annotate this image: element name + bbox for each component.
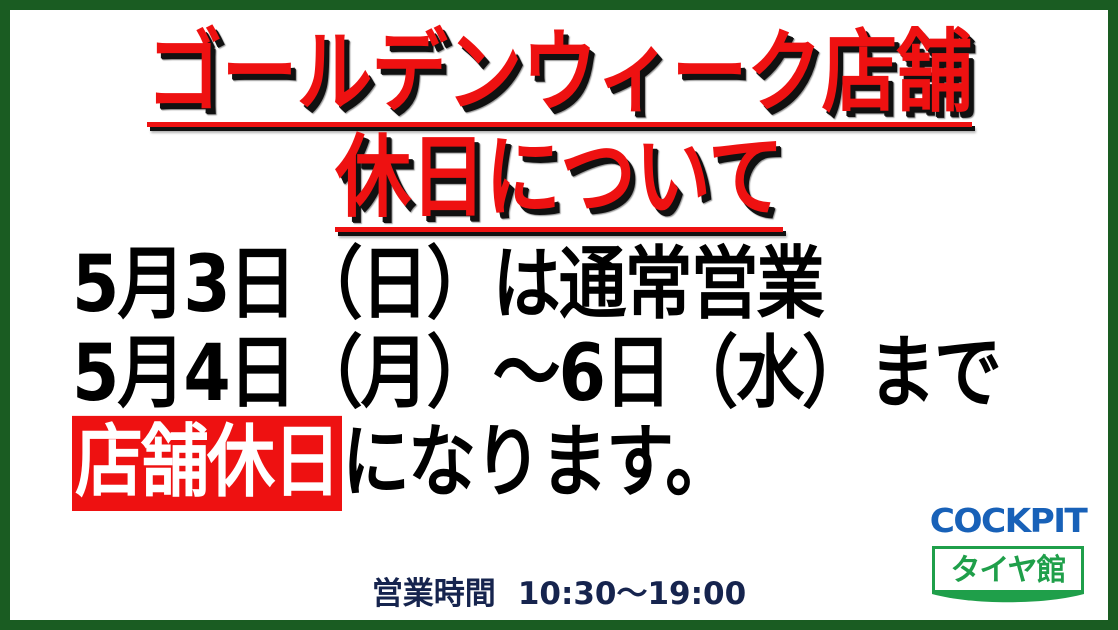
poster: ゴールデンウィーク店舗 休日について 5月3日（日）は通常営業 5月4日（月）〜…	[0, 0, 1118, 630]
body-line-closure-statement: 店舗休日になります。	[72, 424, 1068, 503]
brand-logo-tireshop-text: タイヤ館	[935, 549, 1081, 593]
body-line-closed-range: 5月4日（月）〜6日（水）まで	[72, 335, 1068, 414]
headline-line-2: 休日について	[335, 129, 783, 232]
headline-line-1: ゴールデンウィーク店舗	[147, 24, 972, 127]
headline-line-1-text: ゴールデンウィーク店舗	[147, 24, 972, 121]
brand-logo-swoosh-icon	[932, 590, 1084, 606]
closure-highlight-badge: 店舗休日	[72, 416, 342, 511]
business-hours-label: 営業時間	[372, 576, 496, 612]
closure-suffix-text: になります。	[342, 417, 731, 509]
body-block: 5月3日（日）は通常営業 5月4日（月）〜6日（水）まで 店舗休日になります。	[72, 246, 1068, 492]
brand-logo-cockpit-text: COCKPIT	[929, 504, 1087, 537]
headline-line-2-text: 休日について	[335, 129, 783, 226]
brand-logo: COCKPIT タイヤ館	[932, 504, 1084, 593]
brand-logo-tireshop-box: タイヤ館	[932, 546, 1084, 593]
body-line-open-day: 5月3日（日）は通常営業	[72, 246, 1068, 325]
headline-block: ゴールデンウィーク店舗 休日について	[10, 24, 1108, 232]
business-hours-value: 10:30〜19:00	[518, 576, 746, 612]
